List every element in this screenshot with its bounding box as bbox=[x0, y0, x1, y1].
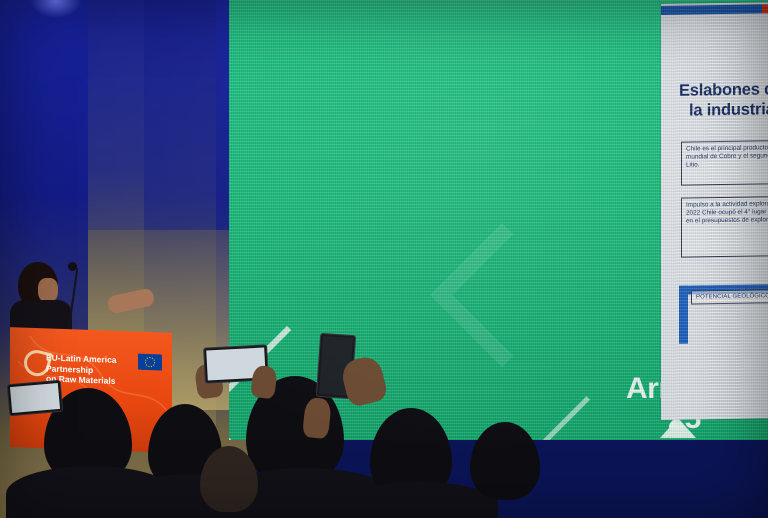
audience-head-5 bbox=[470, 422, 540, 500]
info-box-exploration: Impulso a la actividad exploratoria. En … bbox=[681, 196, 768, 258]
audience-hand-4 bbox=[302, 397, 332, 439]
flag-bar-red bbox=[762, 3, 768, 14]
phone-screen-3 bbox=[10, 383, 60, 413]
conference-photo-scene: Arminera 25 Eslabones de desarrollo de c… bbox=[0, 0, 768, 518]
audience bbox=[0, 328, 768, 518]
audience-shoulders-4 bbox=[338, 482, 498, 518]
slide-title: Eslabones de desarrollo de caden la indu… bbox=[679, 77, 768, 122]
flag-bar-blue bbox=[661, 4, 762, 15]
chile-flag-bar bbox=[661, 3, 768, 15]
slide-title-line1: Eslabones de desarrollo de caden bbox=[679, 77, 768, 102]
speaker-face bbox=[38, 278, 58, 302]
audience-hand-2 bbox=[250, 365, 278, 400]
ceiling-light-glow bbox=[30, 0, 82, 18]
microphone-icon bbox=[68, 262, 77, 271]
smartphone-icon-3[interactable] bbox=[7, 380, 64, 417]
info-box-copper-lithium: Chile es el principal productor mundial … bbox=[681, 140, 768, 186]
stair-label-potencial-geologico: POTENCIAL GEOLÓGICO bbox=[691, 289, 768, 305]
